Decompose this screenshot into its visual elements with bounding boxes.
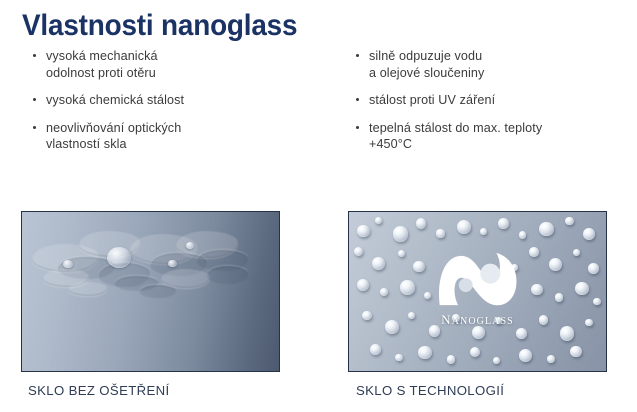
bullet-dot-icon [33,54,36,57]
list-item: vysoká mechanická odolnost proti otěru [32,48,300,81]
feature-columns: vysoká mechanická odolnost proti otěru v… [0,48,637,193]
treated-glass-caption: SKLO S TECHNOLOGIÍ [356,383,504,398]
page-title: Vlastnosti nanoglass [22,8,297,44]
list-item-label: stálost proti UV záření [369,92,625,109]
bullet-dot-icon [356,54,359,57]
list-item: stálost proti UV záření [355,92,625,109]
list-item: vysoká chemická stálost [32,92,300,109]
feature-column-right: silně odpuzuje vodu a olejové sloučeniny… [355,48,625,153]
list-item-label: tepelná stálost do max. teploty +450°C [369,120,625,153]
list-item-label: neovlivňování optických vlastností skla [46,120,300,153]
untreated-glass-surface [22,212,279,371]
slide-page: Vlastnosti nanoglass vysoká mechanická o… [0,0,637,412]
bullet-dot-icon [356,98,359,101]
untreated-glass-caption: SKLO BEZ OŠETŘENÍ [28,383,170,398]
bullet-dot-icon [33,126,36,129]
list-item: tepelná stálost do max. teploty +450°C [355,120,625,153]
list-item-label: silně odpuzuje vodu a olejové sloučeniny [369,48,625,81]
bullet-dot-icon [33,98,36,101]
nanoglass-logo: Nanoglass [403,248,553,329]
treated-glass-image: Nanoglass [348,211,607,372]
nanoglass-wave-icon [432,248,524,310]
list-item: silně odpuzuje vodu a olejové sloučeniny [355,48,625,81]
feature-list-right: silně odpuzuje vodu a olejové sloučeniny… [355,48,625,153]
list-item-label: vysoká mechanická odolnost proti otěru [46,48,300,81]
list-item-label: vysoká chemická stálost [46,92,300,109]
feature-column-left: vysoká mechanická odolnost proti otěru v… [32,48,300,153]
list-item: neovlivňování optických vlastností skla [32,120,300,153]
feature-list-left: vysoká mechanická odolnost proti otěru v… [32,48,300,153]
untreated-glass-image [21,211,280,372]
bullet-dot-icon [356,126,359,129]
treated-glass-surface: Nanoglass [349,212,606,371]
